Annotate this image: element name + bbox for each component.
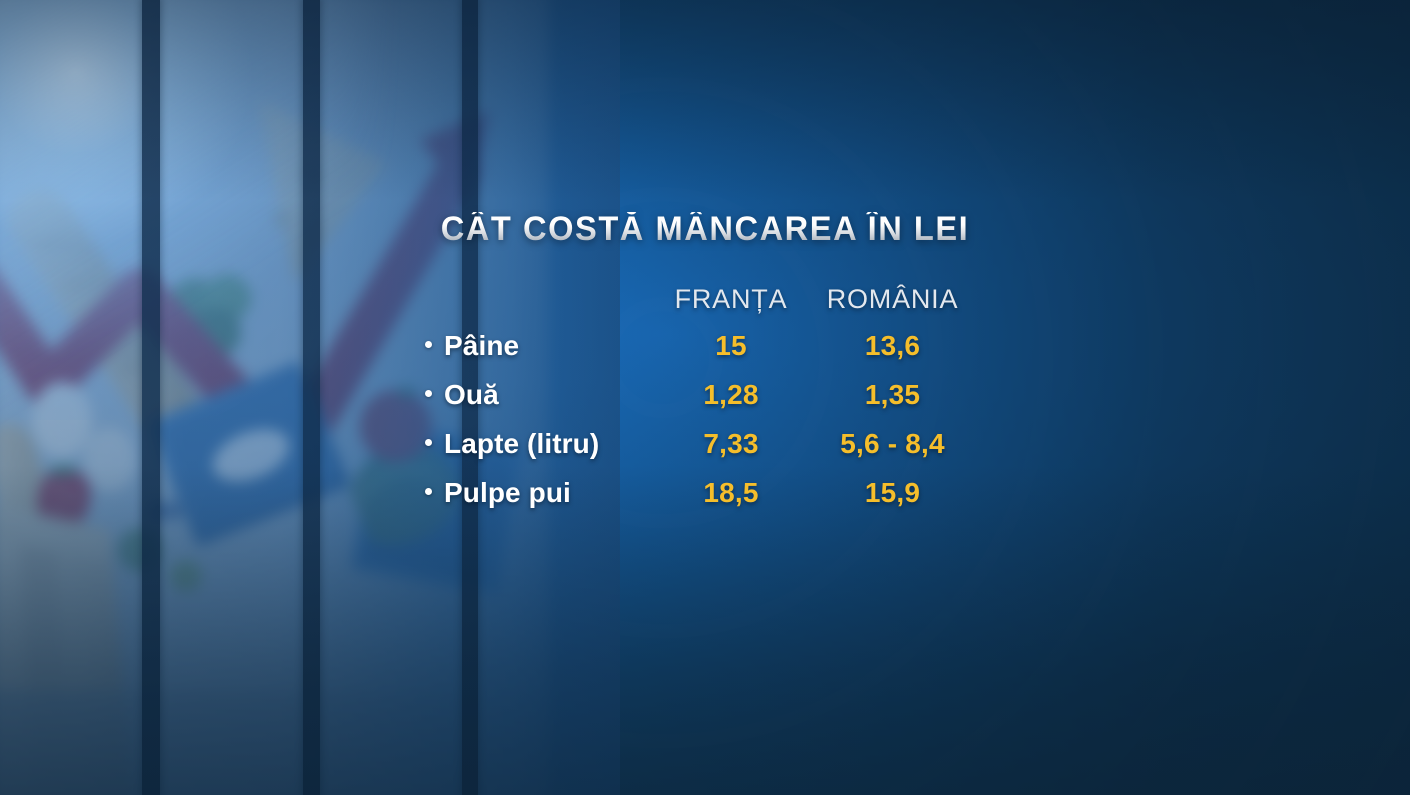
- bullet-icon: [425, 488, 432, 495]
- row-value-romania: 15,9: [805, 477, 980, 509]
- row-label: Pulpe pui: [444, 477, 571, 509]
- table-row: Lapte (litru) 7,33 5,6 - 8,4: [425, 428, 985, 477]
- row-label: Ouă: [444, 379, 499, 411]
- price-comparison-table: FRANȚA ROMÂNIA Pâine 15 13,6 Ouă 1,28 1,…: [425, 284, 985, 526]
- row-label-cell: Ouă: [425, 379, 657, 411]
- bullet-icon: [425, 341, 432, 348]
- row-label: Pâine: [444, 330, 519, 362]
- column-header-romania: ROMÂNIA: [805, 284, 980, 315]
- table-row: Pulpe pui 18,5 15,9: [425, 477, 985, 526]
- row-label-cell: Pâine: [425, 330, 657, 362]
- row-value-france: 15: [657, 330, 805, 362]
- table-row: Pâine 15 13,6: [425, 330, 985, 379]
- row-label: Lapte (litru): [444, 428, 599, 460]
- row-value-romania: 1,35: [805, 379, 980, 411]
- broadcast-graphic: CÂT COSTĂ MÂNCAREA ÎN LEI FRANȚA ROMÂNIA…: [0, 0, 1410, 795]
- bullet-icon: [425, 390, 432, 397]
- row-value-france: 7,33: [657, 428, 805, 460]
- row-value-france: 18,5: [657, 477, 805, 509]
- row-label-cell: Pulpe pui: [425, 477, 657, 509]
- table-row: Ouă 1,28 1,35: [425, 379, 985, 428]
- page-title: CÂT COSTĂ MÂNCAREA ÎN LEI: [28, 212, 1382, 246]
- row-value-france: 1,28: [657, 379, 805, 411]
- table-header-row: FRANȚA ROMÂNIA: [425, 284, 985, 330]
- column-header-france: FRANȚA: [657, 284, 805, 315]
- bullet-icon: [425, 439, 432, 446]
- row-label-cell: Lapte (litru): [425, 428, 657, 460]
- row-value-romania: 5,6 - 8,4: [805, 428, 980, 460]
- row-value-romania: 13,6: [805, 330, 980, 362]
- graphic-content: CÂT COSTĂ MÂNCAREA ÎN LEI FRANȚA ROMÂNIA…: [0, 0, 1410, 795]
